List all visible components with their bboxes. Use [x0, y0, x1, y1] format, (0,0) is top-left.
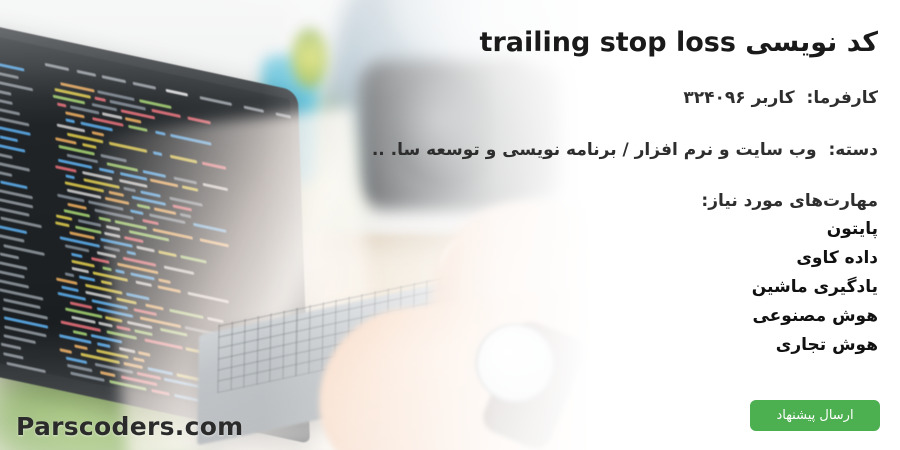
skill-item: پایتون [478, 221, 878, 238]
category-value[interactable]: وب سایت و نرم افزار / برنامه نویسی و توس… [372, 140, 817, 160]
skill-item: یادگیری ماشین [478, 279, 878, 296]
submit-proposal-button[interactable]: ارسال پیشنهاد [750, 400, 880, 431]
skill-item: هوش تجاری [478, 337, 878, 354]
site-logo-text: Parscoders.com [16, 412, 244, 441]
category-label: دسته: [829, 140, 879, 160]
skills-block: مهارت‌های مورد نیاز: پایتون داده کاوی یا… [478, 192, 878, 366]
employer-label: کارفرما: [807, 88, 878, 108]
skill-item: هوش مصنوعی [478, 308, 878, 325]
project-title: کد نویسی trailing stop loss [178, 26, 878, 60]
employer-value: کاربر ۳۲۴۰۹۶ [683, 88, 794, 108]
category-row: دسته: وب سایت و نرم افزار / برنامه نویسی… [158, 140, 878, 160]
employer-row: کارفرما: کاربر ۳۲۴۰۹۶ [158, 88, 878, 108]
skills-label: مهارت‌های مورد نیاز: [478, 192, 878, 212]
skill-item: داده کاوی [478, 250, 878, 267]
banner-card: کد نویسی trailing stop loss کارفرما: کار… [0, 0, 900, 450]
